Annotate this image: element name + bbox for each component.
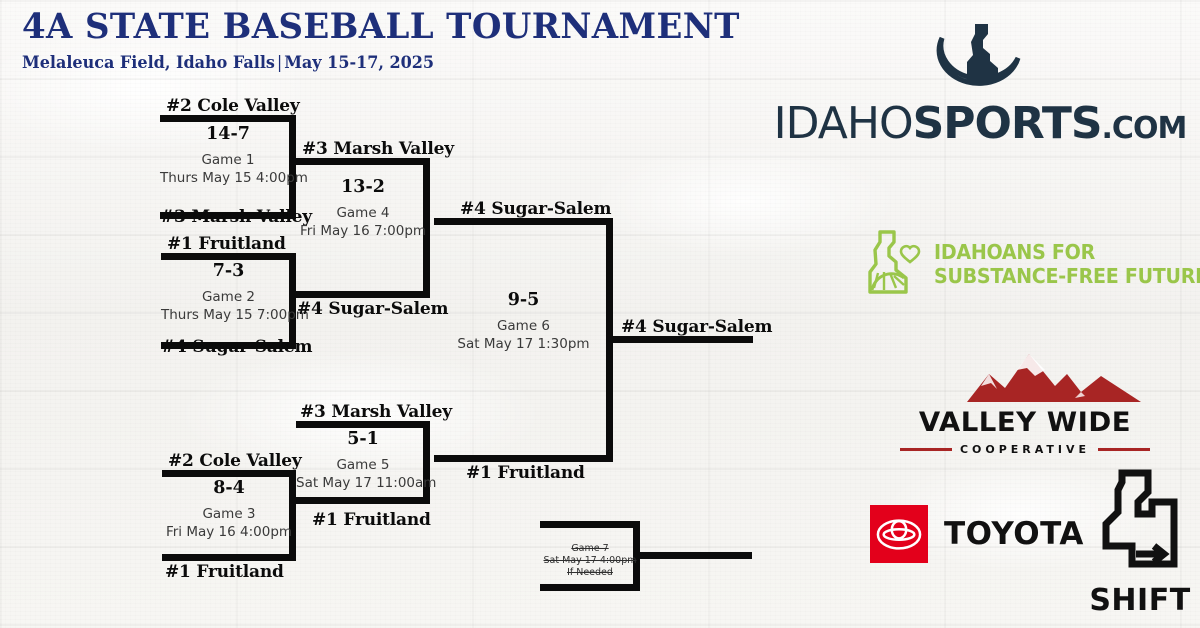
header: 4A STATE BASEBALL TOURNAMENT Melaleuca F… [22,6,762,72]
game-1-top-team: #2 Cole Valley [166,96,300,116]
idahosports-wordmark: IDAHOSPORTS.COM [770,102,1190,146]
idaho-state-in-circle-icon [920,18,1040,100]
game-5-top-team: #3 Marsh Valley [300,402,452,422]
isff-line-2: SUBSTANCE-FREE FUTURES [934,265,1200,288]
game-6-score: 9-5 [434,290,613,310]
venue-text: Melaleuca Field, Idaho Falls [22,53,275,72]
game-3-score: 8-4 [162,478,296,498]
game-1-info: 14-7 Game 1 Thurs May 15 4:00pm [160,124,296,187]
game-1-score: 14-7 [160,124,296,144]
isff-wordmark: IDAHOANS FOR SUBSTANCE-FREE FUTURES [934,241,1200,288]
shift-wordmark: SHIFT [1085,583,1195,618]
game-2-name: Game 2 [161,288,296,306]
game-3-top-team: #2 Cole Valley [168,451,302,471]
champion-connector [613,336,753,343]
game-7-time: Sat May 17 4:00pm [540,555,640,567]
game-5-bottom-team: #1 Fruitland [312,510,431,530]
game-6-info: 9-5 Game 6 Sat May 17 1:30pm [434,290,613,353]
valleywide-subrow: COOPERATIVE [900,443,1150,456]
game-5-name: Game 5 [296,456,430,474]
idahosports-word-dotcom: .COM [1102,111,1187,146]
game-5-time: Sat May 17 11:00am [296,474,430,492]
idahosports-word-sports: SPORTS [913,98,1102,149]
game-6-top-team: #4 Sugar-Salem [460,199,611,219]
idaho-sunrise-heart-icon [860,228,922,301]
game-5-info: 5-1 Game 5 Sat May 17 11:00am [296,429,430,492]
game-4-top-team: #3 Marsh Valley [302,139,454,159]
game-3-time: Fri May 16 4:00pm [162,523,296,541]
toyota-oval-icon [870,505,928,563]
valleywide-name: VALLEY WIDE [898,407,1153,438]
champion-label: #4 Sugar-Salem [621,317,772,337]
game-3-bottom-team: #1 Fruitland [165,562,284,582]
game-2-bottom-team: #4 Sugar-Salem [161,337,312,357]
isff-line-1: IDAHOANS FOR [934,241,1200,264]
toyota-wordmark: TOYOTA [944,516,1084,552]
isff-logo[interactable]: IDAHOANS FOR SUBSTANCE-FREE FUTURES [860,228,1200,301]
game-2-top-team: #1 Fruitland [167,234,286,254]
rule-right [1098,448,1150,451]
game-4-info: 13-2 Game 4 Fri May 16 7:00pm [296,177,430,240]
game-2-score: 7-3 [161,261,296,281]
idahosports-word-idaho: IDAHO [774,98,913,149]
page-title: 4A STATE BASEBALL TOURNAMENT [22,6,740,47]
game-1-bottom-team: #3 Marsh Valley [160,207,312,227]
game-6-time: Sat May 17 1:30pm [434,335,613,353]
game-3-name: Game 3 [162,505,296,523]
game-1-time: Thurs May 15 4:00pm [160,169,296,187]
game-4-bottom-team: #4 Sugar-Salem [297,299,448,319]
game-7-connector [640,552,752,559]
toyota-logo[interactable]: TOYOTA [870,505,1084,563]
game-3-info: 8-4 Game 3 Fri May 16 4:00pm [162,478,296,541]
dates-text: May 15-17, 2025 [284,53,434,72]
header-subtitle: Melaleuca Field, Idaho Falls|May 15-17, … [22,53,740,72]
game-4-time: Fri May 16 7:00pm [296,222,430,240]
game-2-info: 7-3 Game 2 Thurs May 15 7:00pm [161,261,296,324]
game-4-score: 13-2 [296,177,430,197]
valleywide-sub: COOPERATIVE [960,443,1090,456]
rule-left [900,448,952,451]
game-7-name: Game 7 [540,543,640,555]
idahosports-logo[interactable]: IDAHOSPORTS.COM [770,18,1190,146]
valleywide-logo[interactable]: VALLEY WIDE COOPERATIVE [900,352,1150,456]
game-6-name: Game 6 [434,317,613,335]
game-4-name: Game 4 [296,204,430,222]
separator: | [275,53,284,72]
game-6-bottom-team: #1 Fruitland [466,463,585,483]
game-7-info: Game 7 Sat May 17 4:00pm If Needed [540,543,640,579]
game-1-name: Game 1 [160,151,296,169]
sponsor-column: IDAHOSPORTS.COM IDAHOANS FOR SUBSTANCE-F… [760,0,1200,628]
idaho-outline-arrow-icon [1092,563,1188,580]
game-5-score: 5-1 [296,429,430,449]
mountain-range-icon [905,391,1145,408]
game-2-time: Thurs May 15 7:00pm [161,306,296,324]
shift-logo[interactable]: SHIFT [1085,468,1195,618]
game-7-note: If Needed [540,567,640,579]
